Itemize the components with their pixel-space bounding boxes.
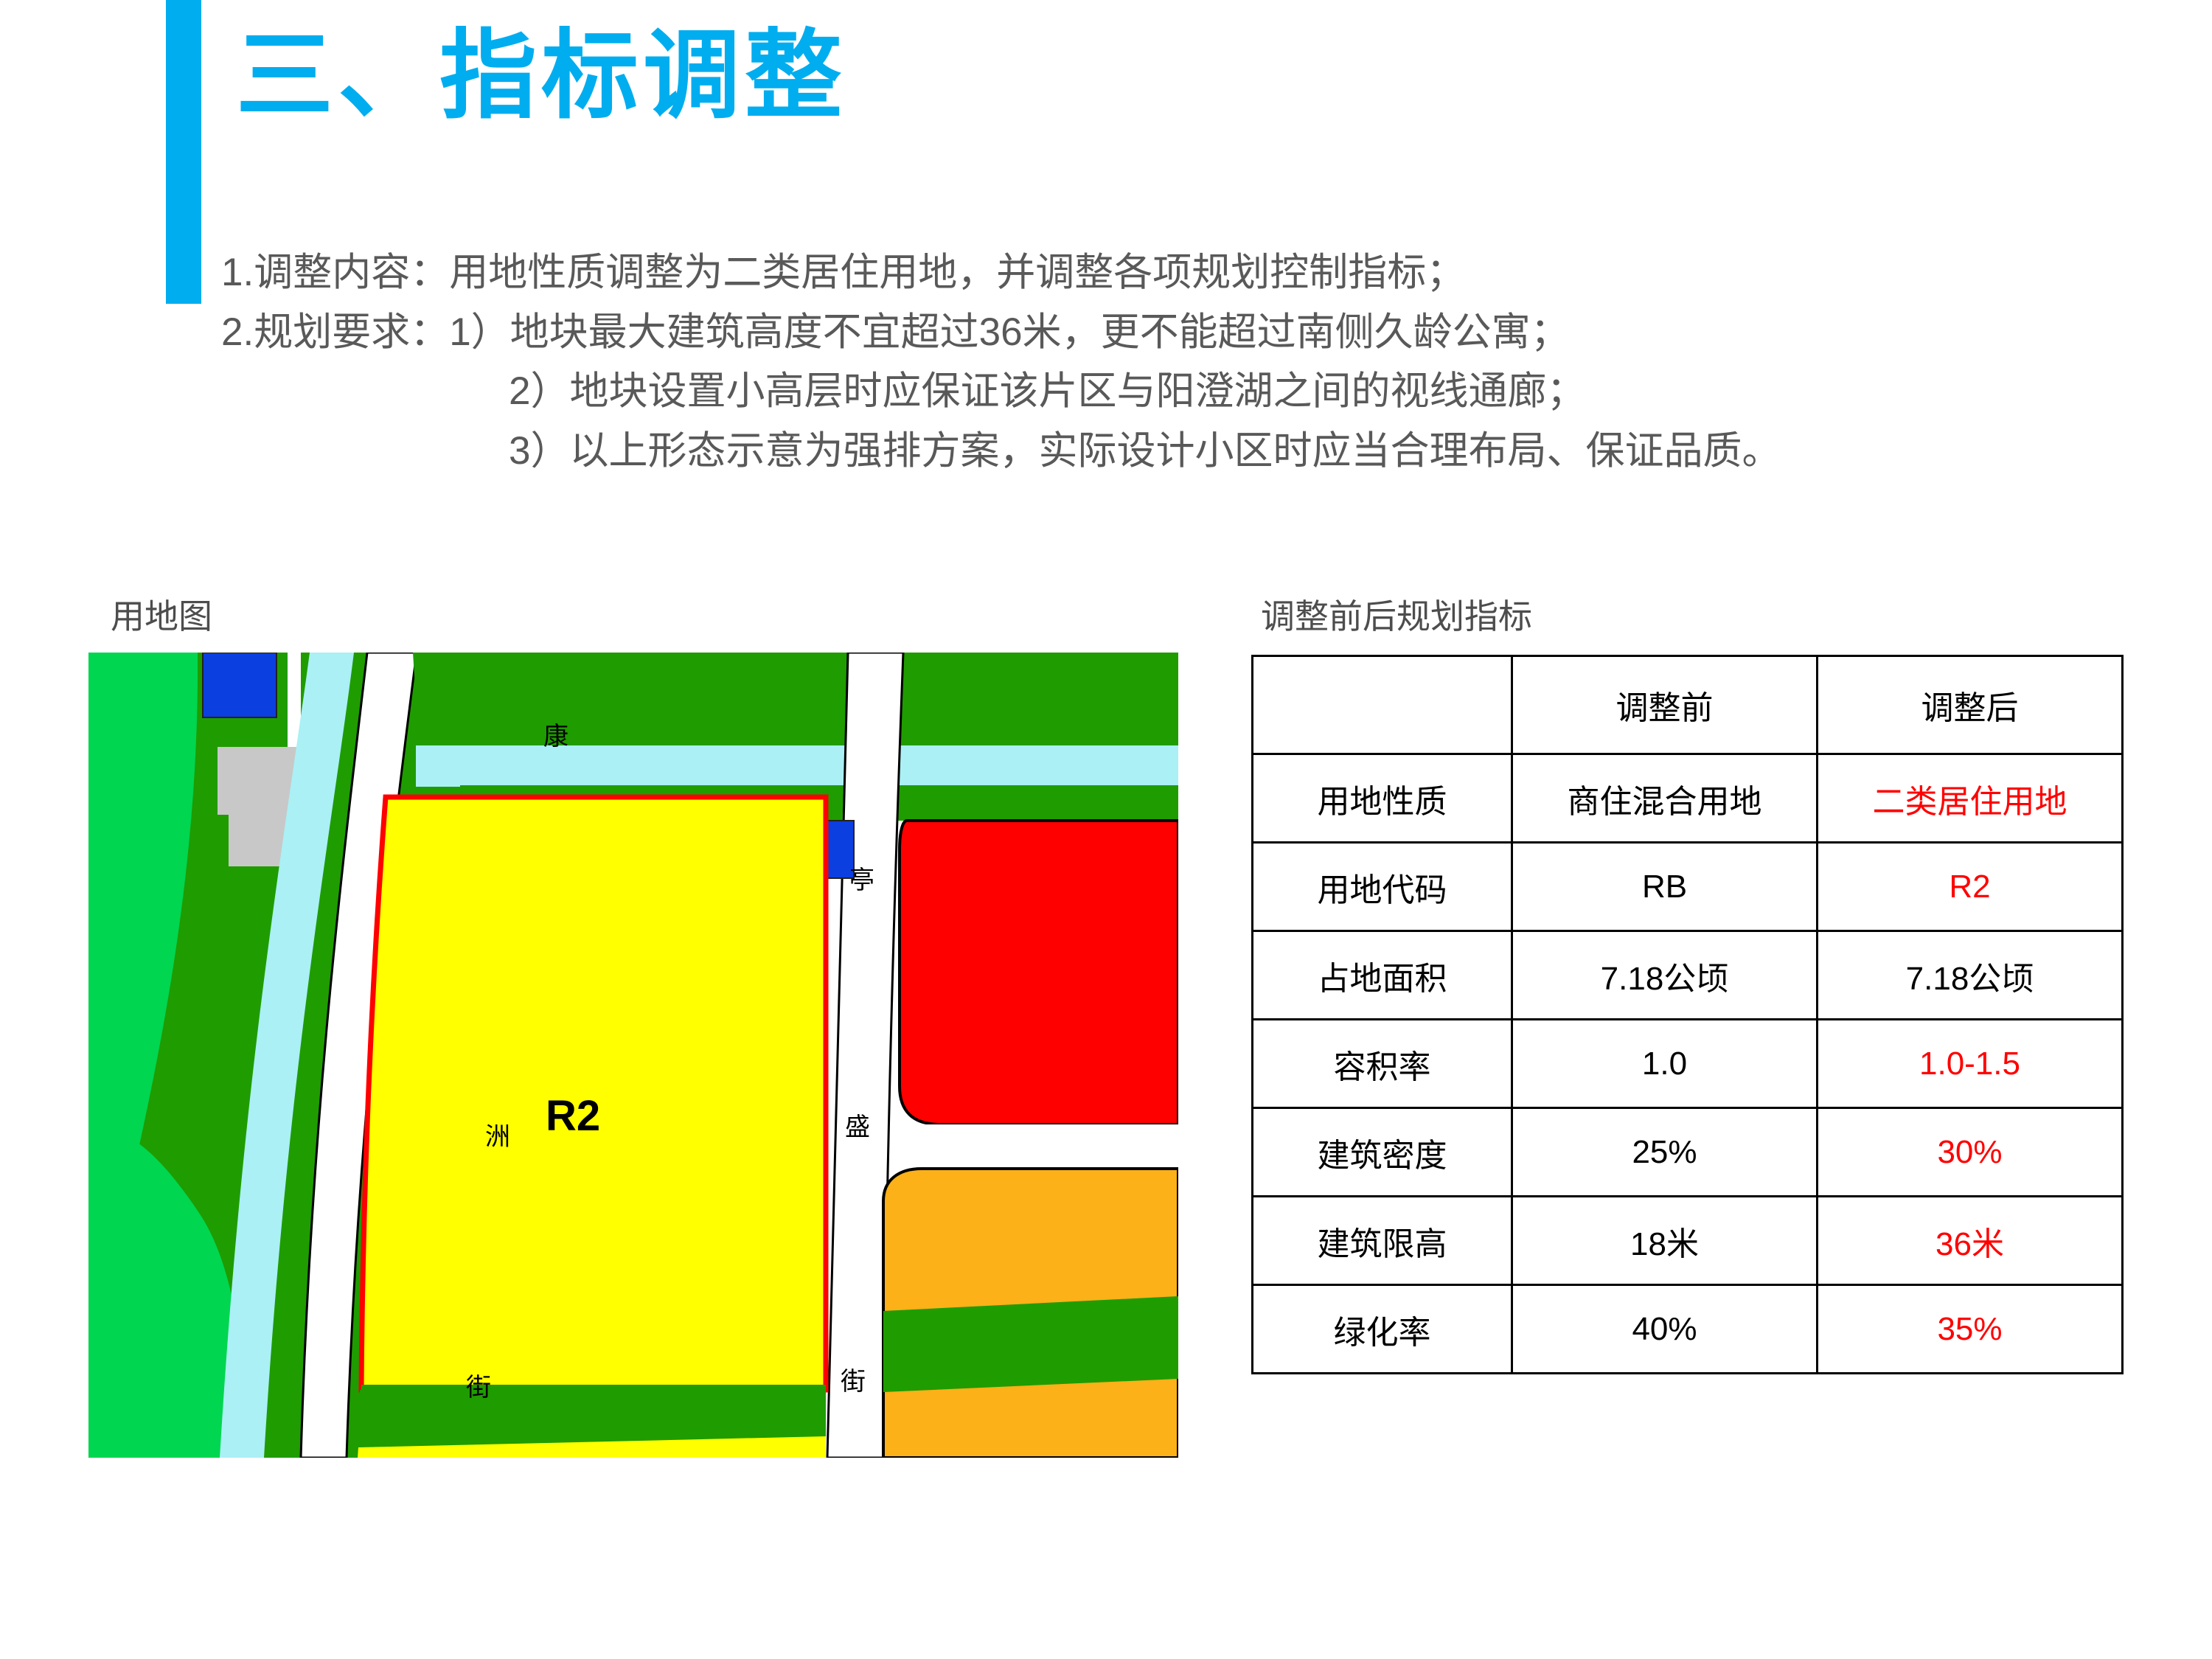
public-facility-parcel-blue [203, 653, 276, 717]
green-strip-north [413, 653, 1178, 745]
body-line-2: 2.规划要求：1）地块最大建筑高度不宜超过36米，更不能超过南侧久龄公寓； [221, 303, 1781, 363]
table-header-before: 调整前 [1512, 656, 1818, 754]
body-line-1: 1.调整内容：用地性质调整为二类居住用地，并调整各项规划控制指标； [221, 243, 1781, 303]
table-header-after: 调整后 [1818, 656, 2123, 754]
table-row: 用地代码RBR2 [1253, 843, 2123, 931]
metric-label: 用地性质 [1253, 754, 1512, 843]
metric-value-before: 1.0 [1512, 1020, 1818, 1108]
body-line-4: 3）以上形态示意为强排方案，实际设计小区时应当合理布局、保证品质。 [221, 422, 1781, 481]
road-east-horizontal [892, 1124, 1178, 1169]
table-header-corner [1253, 656, 1512, 754]
table-row: 用地性质商住混合用地二类居住用地 [1253, 754, 2123, 843]
metric-label: 容积率 [1253, 1020, 1512, 1108]
land-use-map-svg: R2 康 洲 亭 盛 街 街 [88, 653, 1178, 1458]
metric-value-after: R2 [1818, 843, 2123, 931]
road-label-sheng: 盛 [845, 1113, 870, 1141]
parcel-commercial-red[interactable] [900, 821, 1178, 1124]
table-row: 建筑限高18米36米 [1253, 1197, 2123, 1285]
metric-value-before: 商住混合用地 [1512, 754, 1818, 843]
canal-north-west-stub [416, 745, 460, 787]
map-caption: 用地图 [111, 590, 212, 639]
metric-label: 占地面积 [1253, 931, 1512, 1020]
land-use-map[interactable]: R2 康 洲 亭 盛 街 街 [88, 653, 1178, 1458]
metric-label: 用地代码 [1253, 843, 1512, 931]
table-row: 建筑密度25%30% [1253, 1108, 2123, 1197]
metric-value-before: 7.18公顷 [1512, 931, 1818, 1020]
metric-value-before: 18米 [1512, 1197, 1818, 1285]
table-caption: 调整前后规划指标 [1261, 590, 1532, 639]
metric-value-after: 7.18公顷 [1818, 931, 2123, 1020]
road-label-jie-east: 街 [841, 1368, 866, 1396]
road-label-ting: 亭 [849, 866, 874, 894]
road-label-zhou: 洲 [485, 1123, 510, 1151]
metric-label: 建筑限高 [1253, 1197, 1512, 1285]
table-row: 占地面积7.18公顷7.18公顷 [1253, 931, 2123, 1020]
metric-value-after: 二类居住用地 [1818, 754, 2123, 843]
metric-label: 绿化率 [1253, 1285, 1512, 1374]
canal-north [417, 745, 1178, 785]
table-row: 绿化率40%35% [1253, 1285, 2123, 1374]
metric-value-after: 35% [1818, 1285, 2123, 1374]
green-band-east [883, 1296, 1178, 1392]
table-row: 容积率1.01.0-1.5 [1253, 1020, 2123, 1108]
metric-value-before: 40% [1512, 1285, 1818, 1374]
road-label-kang: 康 [543, 723, 568, 751]
planning-metrics-table: 调整前 调整后 用地性质商住混合用地二类居住用地用地代码RBR2占地面积7.18… [1251, 655, 2124, 1374]
metric-label: 建筑密度 [1253, 1108, 1512, 1197]
title-accent-bar [166, 0, 201, 304]
body-paragraph: 1.调整内容：用地性质调整为二类居住用地，并调整各项规划控制指标； 2.规划要求… [221, 243, 1781, 481]
parcel-code-label: R2 [546, 1092, 600, 1140]
body-line-3: 2）地块设置小高层时应保证该片区与阳澄湖之间的视线通廊； [221, 362, 1781, 422]
page-title: 三、指标调整 [236, 22, 846, 129]
table-header-row: 调整前 调整后 [1253, 656, 2123, 754]
metric-value-before: 25% [1512, 1108, 1818, 1197]
metric-value-after: 30% [1818, 1108, 2123, 1197]
metric-value-after: 1.0-1.5 [1818, 1020, 2123, 1108]
metric-value-before: RB [1512, 843, 1818, 931]
road-label-jie-west: 街 [466, 1374, 491, 1402]
metric-value-after: 36米 [1818, 1197, 2123, 1285]
